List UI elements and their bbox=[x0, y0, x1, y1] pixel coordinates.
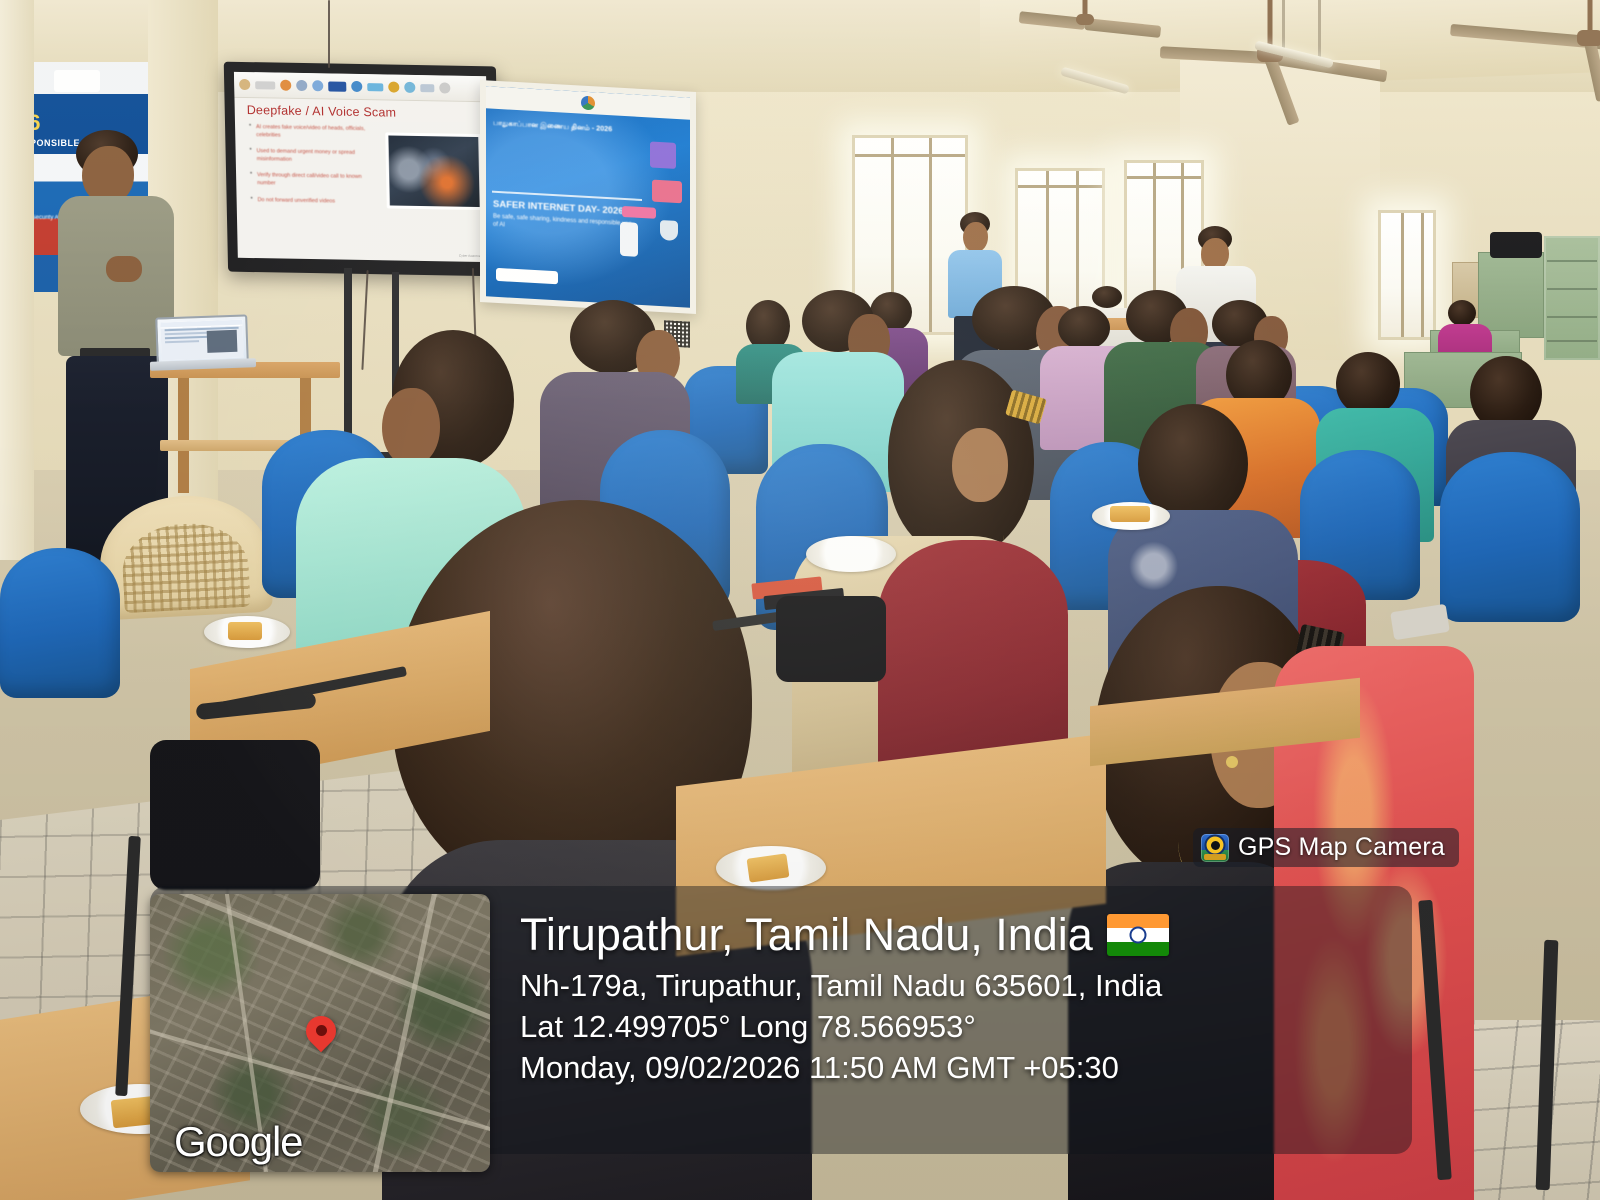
projector-logo-bar bbox=[486, 86, 690, 119]
projector-content: பாதுகாப்பான இணைய தினம் - 2026 SAFER INTE… bbox=[486, 86, 690, 307]
logo-csc-icon bbox=[439, 82, 450, 93]
logo-ngo-icon bbox=[280, 80, 291, 91]
projector-chip-2 bbox=[652, 180, 682, 204]
ceiling-cable bbox=[328, 0, 330, 68]
logo-gov-icon bbox=[296, 80, 307, 91]
gps-map-camera-label: GPS Map Camera bbox=[1238, 833, 1445, 862]
logo-pill-2 bbox=[367, 83, 383, 91]
banner-logo bbox=[54, 70, 100, 92]
gps-location-title-row: Tirupathur, Tamil Nadu, India bbox=[520, 905, 1420, 965]
snack-4 bbox=[228, 622, 262, 640]
projector-icon-phone bbox=[620, 222, 638, 257]
standing-man-face bbox=[963, 222, 988, 252]
light-stem-1 bbox=[1282, 0, 1285, 50]
logo-i4c-icon bbox=[351, 81, 362, 92]
pink-shirt-hair bbox=[1058, 306, 1110, 350]
slide-bullet-3: Verify through direct call/video call to… bbox=[250, 172, 378, 189]
gps-datetime: Monday, 09/02/2026 11:50 AM GMT +05:30 bbox=[520, 1047, 1420, 1088]
logo-emblem-icon bbox=[239, 79, 250, 90]
slide-bullet-4: Do not forward unverified videos bbox=[251, 197, 379, 207]
projector-icon-shield bbox=[660, 220, 678, 241]
foreground-right-earring bbox=[1226, 756, 1238, 768]
projector-chip-3 bbox=[622, 206, 656, 219]
india-flag-icon bbox=[1107, 914, 1169, 956]
presenter-table-leg-1 bbox=[178, 378, 189, 493]
google-watermark: Google bbox=[174, 1118, 302, 1166]
photo-canvas: 26 RESPONSIBLE Cyber Security Awareness … bbox=[0, 0, 1600, 1200]
gps-address: Nh-179a, Tirupathur, Tamil Nadu 635601, … bbox=[520, 965, 1420, 1006]
gps-coordinates: Lat 12.499705° Long 78.566953° bbox=[520, 1006, 1420, 1047]
slide-logo-bar bbox=[234, 72, 487, 102]
map-pin-icon bbox=[306, 1016, 336, 1046]
slide-bullet-1: AI creates fake voice/video of heads, of… bbox=[249, 124, 377, 141]
projector-cta-button bbox=[496, 268, 558, 284]
logo-police-icon bbox=[388, 82, 399, 93]
gps-location-title: Tirupathur, Tamil Nadu, India bbox=[520, 905, 1093, 965]
tv-screen: Deepfake / AI Voice Scam AI creates fake… bbox=[234, 72, 490, 262]
logo-nic-icon bbox=[328, 81, 346, 91]
projector-screen: பாதுகாப்பான இணைய தினம் - 2026 SAFER INTE… bbox=[480, 80, 696, 314]
projector-tamil-heading: பாதுகாப்பான இணைய தினம் - 2026 bbox=[493, 117, 625, 135]
slide-title: Deepfake / AI Voice Scam bbox=[247, 103, 397, 120]
map-road-3 bbox=[365, 894, 441, 1172]
mint-shirt-face bbox=[382, 388, 440, 466]
logo-isea-icon bbox=[404, 82, 415, 93]
slide-bullet-list: AI creates fake voice/video of heads, of… bbox=[249, 124, 379, 215]
logo-cert-icon bbox=[312, 80, 323, 91]
presenter-hand bbox=[106, 256, 142, 282]
black-bag-foreground bbox=[150, 740, 320, 890]
black-bag-on-cabinet bbox=[1490, 232, 1542, 258]
paper-plate-1 bbox=[806, 536, 896, 572]
black-bag-mid bbox=[776, 596, 886, 682]
snack-2 bbox=[1110, 506, 1150, 522]
gps-map-camera-icon bbox=[1201, 834, 1229, 862]
light-stem-2 bbox=[1318, 0, 1321, 60]
plastic-chair-mesh bbox=[120, 521, 250, 613]
window-4 bbox=[1378, 210, 1436, 340]
wall-pillar-left bbox=[0, 0, 34, 560]
green-shelf-unit bbox=[1544, 236, 1600, 360]
teal-right-hair bbox=[1336, 352, 1400, 416]
woman-right-back-hair bbox=[1448, 300, 1476, 326]
logo-pill-3 bbox=[420, 84, 434, 92]
blue-chair-r2-e[interactable] bbox=[1440, 452, 1580, 622]
slide-bullet-2: Used to demand urgent money or spread mi… bbox=[250, 148, 378, 165]
gps-map-camera-badge[interactable]: GPS Map Camera bbox=[1193, 828, 1459, 867]
projector-chip-1 bbox=[650, 141, 676, 168]
tv-display: Deepfake / AI Voice Scam AI creates fake… bbox=[224, 62, 501, 277]
laptop-display-content bbox=[160, 320, 243, 361]
slide-image-deepfake bbox=[385, 132, 483, 210]
projector-emblem-icon bbox=[581, 96, 595, 111]
logo-pill-1 bbox=[255, 81, 275, 89]
gps-map-thumbnail[interactable]: Google bbox=[150, 894, 490, 1172]
blue-chair-left-far[interactable] bbox=[0, 548, 120, 698]
projector-english-heading: SAFER INTERNET DAY- 2026 Be safe, safe s… bbox=[493, 199, 633, 237]
gps-text-block: Tirupathur, Tamil Nadu, India Nh-179a, T… bbox=[520, 905, 1420, 1088]
beige-center-face bbox=[952, 428, 1008, 502]
